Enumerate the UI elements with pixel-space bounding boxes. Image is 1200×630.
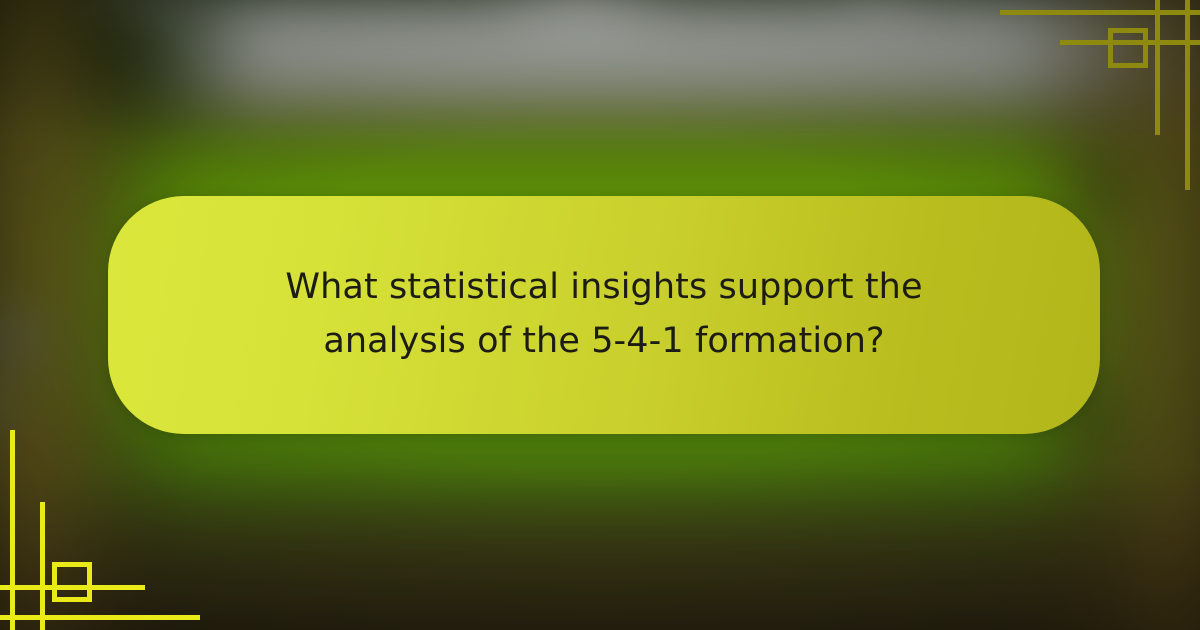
corner-square-icon	[1108, 28, 1148, 68]
corner-line-vertical-inner	[1155, 0, 1160, 135]
corner-square-icon	[52, 562, 92, 602]
corner-line-vertical-outer	[1185, 0, 1190, 190]
question-card: What statistical insights support the an…	[108, 196, 1100, 434]
corner-line-vertical-outer	[10, 430, 15, 630]
corner-line-horizontal-outer	[1000, 10, 1200, 15]
corner-line-horizontal-outer	[0, 615, 200, 620]
screenshot-root: What statistical insights support the an…	[0, 0, 1200, 630]
corner-frame-bottom-left-icon	[0, 420, 210, 630]
question-text: What statistical insights support the an…	[209, 261, 999, 369]
corner-line-vertical-inner	[40, 502, 45, 630]
corner-frame-top-right-icon	[990, 0, 1200, 200]
